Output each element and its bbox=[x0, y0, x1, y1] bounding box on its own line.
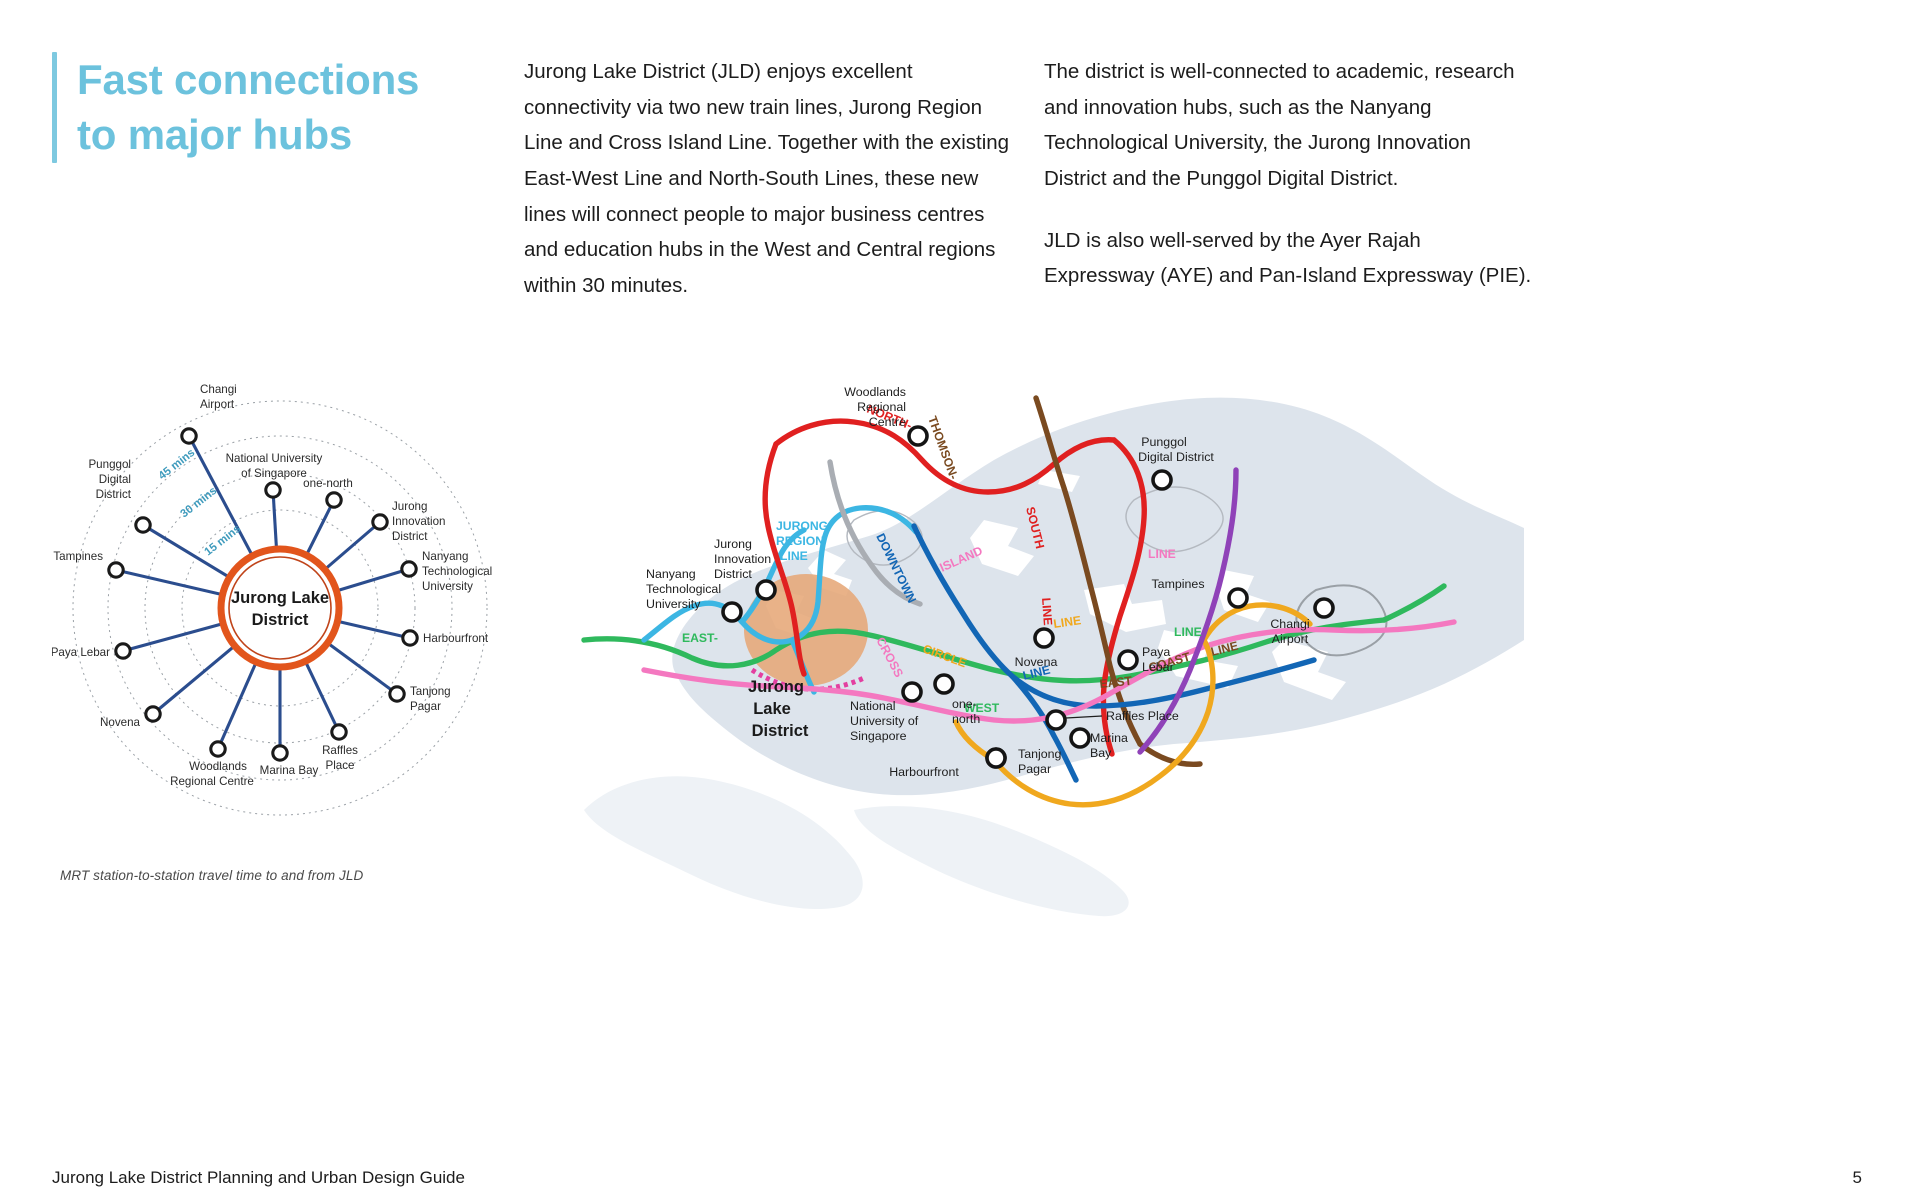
station-label-changi-2: Airport bbox=[1272, 632, 1309, 646]
node-one-north[interactable] bbox=[327, 493, 341, 507]
station-label-jid-2: Innovation bbox=[714, 552, 771, 566]
mrt-map-svg: .ln{fill:none;stroke-linecap:round;strok… bbox=[524, 340, 1544, 920]
diagram-caption: MRT station-to-station travel time to an… bbox=[60, 868, 363, 883]
label-jurong-region-1: JURONG bbox=[776, 519, 828, 533]
station-label-woodlands-2: Regional bbox=[857, 400, 906, 414]
jld-label-line-3: District bbox=[752, 722, 809, 740]
node-label-punggol-1: Punggol bbox=[88, 458, 131, 471]
node-marina-bay[interactable] bbox=[273, 746, 287, 760]
node-label-punggol-2: Digital bbox=[99, 473, 131, 486]
station-label-raffles-place: Raffles Place bbox=[1106, 709, 1179, 723]
node-label-tampines: Tampines bbox=[53, 550, 103, 563]
body-column-middle: Jurong Lake District (JLD) enjoys excell… bbox=[524, 54, 1016, 304]
node-paya-lebar[interactable] bbox=[116, 644, 130, 658]
node-nanyang-technological-university[interactable] bbox=[402, 562, 416, 576]
station-label-nus-2: University of bbox=[850, 714, 919, 728]
station-label-jid-3: District bbox=[714, 567, 752, 581]
node-punggol-digital-district[interactable] bbox=[136, 518, 150, 532]
node-label-jid-1: Jurong bbox=[392, 500, 427, 513]
body-column-right: The district is well-connected to academ… bbox=[1044, 54, 1536, 294]
node-label-ntu-1: Nanyang bbox=[422, 550, 468, 563]
node-national-university-of-singapore[interactable] bbox=[266, 483, 280, 497]
station-label-tanjong-2: Pagar bbox=[1018, 762, 1051, 776]
center-hub: Jurong Lake District bbox=[221, 549, 339, 667]
station-label-one-north-2: north bbox=[952, 712, 980, 726]
node-changi-airport[interactable] bbox=[182, 429, 196, 443]
station-label-one-north-1: one- bbox=[952, 697, 977, 711]
footer-text: Jurong Lake District Planning and Urban … bbox=[52, 1168, 465, 1188]
station-label-harbourfront: Harbourfront bbox=[889, 765, 959, 779]
node-label-punggol-3: District bbox=[96, 488, 132, 501]
node-label-woodlands-1: Woodlands bbox=[189, 760, 247, 773]
station-label-ntu-1: Nanyang bbox=[646, 567, 696, 581]
node-label-changi-airport-1: Changi bbox=[200, 383, 237, 396]
node-label-harbourfront: Harbourfront bbox=[423, 632, 489, 645]
title-text: Fast connections to major hubs bbox=[77, 52, 419, 163]
station-label-woodlands-3: Centre bbox=[869, 415, 906, 429]
station-jurong-innovation-district[interactable] bbox=[757, 581, 775, 599]
node-label-ntu-3: University bbox=[422, 580, 473, 593]
station-harbourfront-anchor bbox=[987, 749, 1005, 767]
jld-label-line-1: Jurong bbox=[748, 678, 804, 696]
ring-label-30min: 30 mins bbox=[178, 485, 219, 521]
station-label-woodlands-1: Woodlands bbox=[844, 385, 906, 399]
node-label-jid-2: Innovation bbox=[392, 515, 446, 528]
station-label-tampines: Tampines bbox=[1151, 577, 1204, 591]
node-label-jid-3: District bbox=[392, 530, 428, 543]
node-tanjong-pagar[interactable] bbox=[390, 687, 404, 701]
center-label-line-2: District bbox=[252, 611, 309, 629]
station-label-lebar: Lebar bbox=[1142, 660, 1174, 674]
node-novena[interactable] bbox=[146, 707, 160, 721]
paragraph: The district is well-connected to academ… bbox=[1044, 54, 1536, 197]
title-accent-bar bbox=[52, 52, 57, 163]
station-changi-airport[interactable] bbox=[1315, 599, 1333, 617]
label-jurong-region-3: LINE bbox=[780, 549, 808, 563]
radial-travel-time-diagram: .sp{stroke:#2b4d8e;stroke-width:3.1;fill… bbox=[52, 370, 502, 830]
node-label-raffles-1: Raffles bbox=[322, 744, 358, 757]
node-label-tanjong-1: Tanjong bbox=[410, 685, 451, 698]
node-label-raffles-2: Place bbox=[325, 759, 354, 772]
node-label-changi-airport-2: Airport bbox=[200, 398, 235, 411]
node-label-nus-2: of Singapore bbox=[241, 467, 307, 480]
station-label-punggol-2: Digital District bbox=[1138, 450, 1214, 464]
node-label-novena: Novena bbox=[100, 716, 141, 729]
page-title: Fast connections to major hubs bbox=[52, 52, 419, 163]
label-jurong-region-2: REGION bbox=[776, 534, 824, 548]
node-jurong-innovation-district[interactable] bbox=[373, 515, 387, 529]
station-label-paya: Paya bbox=[1142, 645, 1170, 659]
page-root: Fast connections to major hubs Jurong La… bbox=[0, 0, 1920, 1200]
station-label-ntu-3: University bbox=[646, 597, 701, 611]
station-nanyang-technological-university[interactable] bbox=[723, 603, 741, 621]
station-label-nus-3: Singapore bbox=[850, 729, 907, 743]
label-east-dash: EAST- bbox=[682, 631, 718, 645]
land-feature bbox=[690, 460, 734, 482]
station-woodlands-regional-centre[interactable] bbox=[909, 427, 927, 445]
node-label-nus-1: National University bbox=[226, 452, 323, 465]
center-ring-outer bbox=[221, 549, 339, 667]
station-marina-bay[interactable] bbox=[1071, 729, 1089, 747]
node-label-one-north: one-north bbox=[303, 477, 353, 490]
label-ew-line: LINE bbox=[1174, 625, 1202, 639]
station-label-changi-1: Changi bbox=[1270, 617, 1309, 631]
station-national-university-of-singapore[interactable] bbox=[903, 683, 921, 701]
radial-diagram-svg: .sp{stroke:#2b4d8e;stroke-width:3.1;fill… bbox=[52, 370, 502, 830]
land-south-ghost-2 bbox=[854, 806, 1129, 916]
title-line-2: to major hubs bbox=[77, 107, 419, 162]
land-south-ghost bbox=[584, 776, 863, 909]
node-harbourfront[interactable] bbox=[403, 631, 417, 645]
paragraph: JLD is also well-served by the Ayer Raja… bbox=[1044, 223, 1536, 294]
station-label-nus-1: National bbox=[850, 699, 895, 713]
node-label-tanjong-2: Pagar bbox=[410, 700, 441, 713]
ring-label-15min: 15 mins bbox=[202, 523, 243, 559]
title-line-1: Fast connections bbox=[77, 52, 419, 107]
node-label-paya-lebar: Paya Lebar bbox=[52, 646, 110, 659]
station-label-novena: Novena bbox=[1015, 655, 1058, 669]
station-raffles-place[interactable] bbox=[1047, 711, 1065, 729]
singapore-mrt-map: .ln{fill:none;stroke-linecap:round;strok… bbox=[524, 340, 1544, 920]
center-label-line-1: Jurong Lake bbox=[231, 589, 329, 607]
station-one-north[interactable] bbox=[935, 675, 953, 693]
station-label-punggol-1: Punggol bbox=[1141, 435, 1186, 449]
station-label-ntu-2: Technological bbox=[646, 582, 721, 596]
station-label-jid-1: Jurong bbox=[714, 537, 752, 551]
station-punggol-digital-district[interactable] bbox=[1153, 471, 1171, 489]
paragraph: Jurong Lake District (JLD) enjoys excell… bbox=[524, 54, 1016, 304]
node-label-marina-bay: Marina Bay bbox=[260, 764, 319, 777]
page-number: 5 bbox=[1853, 1168, 1862, 1188]
station-tampines[interactable] bbox=[1229, 589, 1247, 607]
station-novena[interactable] bbox=[1035, 629, 1053, 647]
station-label-marina-1: Marina bbox=[1090, 731, 1128, 745]
jld-label-line-2: Lake bbox=[753, 700, 791, 718]
node-label-ntu-2: Technological bbox=[422, 565, 492, 578]
node-raffles-place[interactable] bbox=[332, 725, 346, 739]
station-label-tanjong-1: Tanjong bbox=[1018, 747, 1062, 761]
node-label-woodlands-2: Regional Centre bbox=[170, 775, 254, 788]
label-island-line: LINE bbox=[1148, 547, 1176, 561]
ring-label-45min: 45 mins bbox=[156, 447, 197, 483]
station-paya-lebar[interactable] bbox=[1119, 651, 1137, 669]
station-label-marina-2: Bay bbox=[1090, 746, 1112, 760]
node-woodlands-regional-centre[interactable] bbox=[211, 742, 225, 756]
node-tampines[interactable] bbox=[109, 563, 123, 577]
